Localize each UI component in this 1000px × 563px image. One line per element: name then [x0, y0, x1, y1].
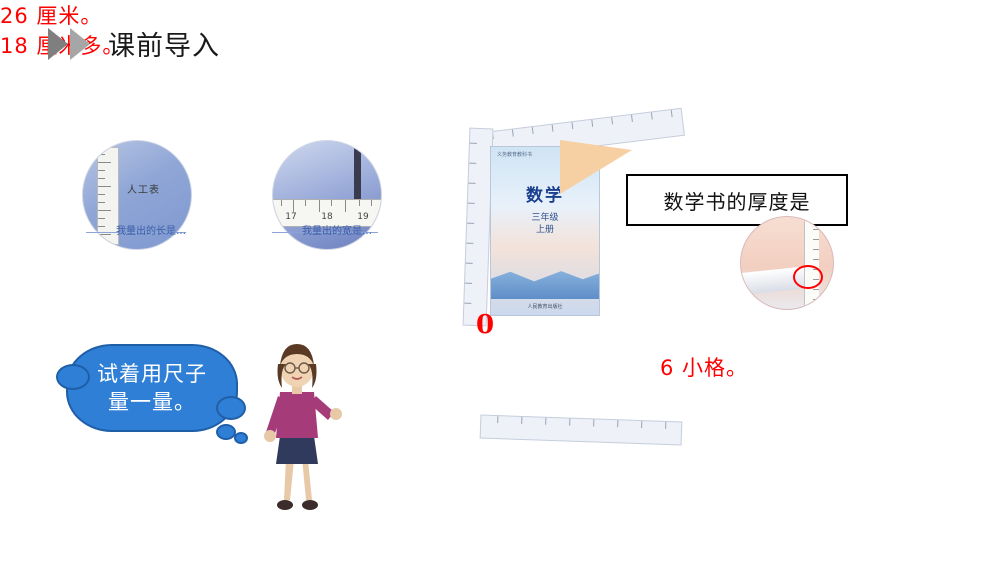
callout-pointer: [560, 140, 632, 194]
handwriting-caption-2: 我量出的宽是…: [302, 222, 372, 237]
ruler-zero-mark: 0: [476, 310, 494, 340]
bubble-line-2: 量一量。: [97, 388, 207, 416]
bubble-line-1: 试着用尺子: [97, 360, 207, 388]
speech-bubble: 试着用尺子 量一量。: [66, 344, 238, 432]
page-title: 课前导入: [108, 24, 220, 63]
book-title: 数学: [526, 181, 564, 206]
chevron-right-icon-1: [48, 28, 68, 60]
bubble-dot-1: [216, 424, 236, 440]
tick-19: 19: [357, 212, 368, 222]
slide-root: 课前导入 人工表 我量出的长是… 26 厘米。 17 18 19 我量出的宽是……: [0, 0, 1000, 563]
book-thickness-zoom-photo: [740, 216, 834, 310]
bubble-dot-2: [234, 432, 248, 444]
handwriting-caption-1: 我量出的长是…: [116, 222, 186, 237]
book-cover-illustration: [491, 265, 599, 299]
book-grade-line-2: 上册: [531, 225, 558, 237]
double-chevron-right-icon: [48, 28, 90, 60]
ruler-tick-numbers: 17 18 19: [273, 212, 381, 222]
ruler-left-graphic: [463, 128, 494, 327]
book-publisher-top-text: 义务教育教科书: [497, 151, 532, 158]
callout-text: 数学书的厚度是: [664, 186, 811, 215]
slide-header: 课前导入: [48, 24, 220, 63]
book-cover-text: 人工表: [127, 181, 160, 196]
tick-18: 18: [321, 212, 332, 222]
book-grade: 三年级 上册: [531, 213, 558, 236]
zoom-ruler-graphic: [804, 221, 819, 305]
ruler-bottom-graphic: [480, 414, 683, 445]
book-edge-shadow: [354, 147, 361, 199]
teacher-illustration: [252, 340, 342, 516]
chevron-right-icon-2: [70, 28, 90, 60]
book-publisher-bottom-text: 人民教育出版社: [527, 303, 562, 310]
book-grade-line-1: 三年级: [531, 213, 558, 225]
callout-box: 数学书的厚度是: [626, 174, 848, 226]
tick-17: 17: [285, 212, 296, 222]
answer-text-thickness: 6 小格。: [660, 352, 748, 382]
red-highlight-oval: [793, 265, 823, 289]
